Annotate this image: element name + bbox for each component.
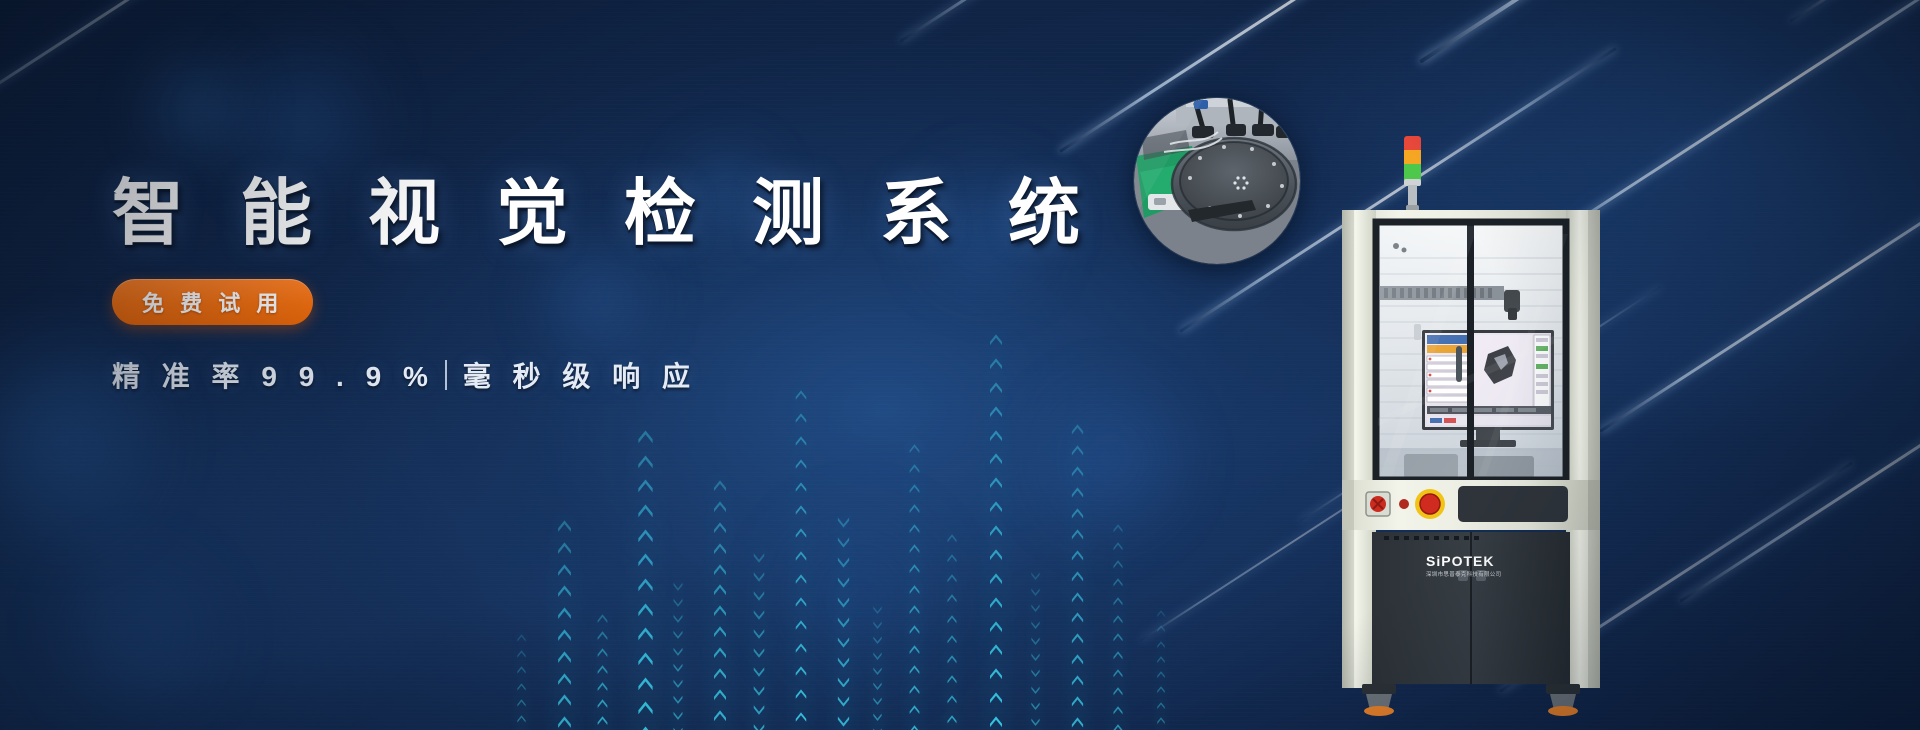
vignette-overlay — [0, 0, 1920, 730]
marketing-banner: 智 能 视 觉 检 测 系 统 免 费 试 用 精 准 率 9 9 . 9 % … — [0, 0, 1920, 730]
